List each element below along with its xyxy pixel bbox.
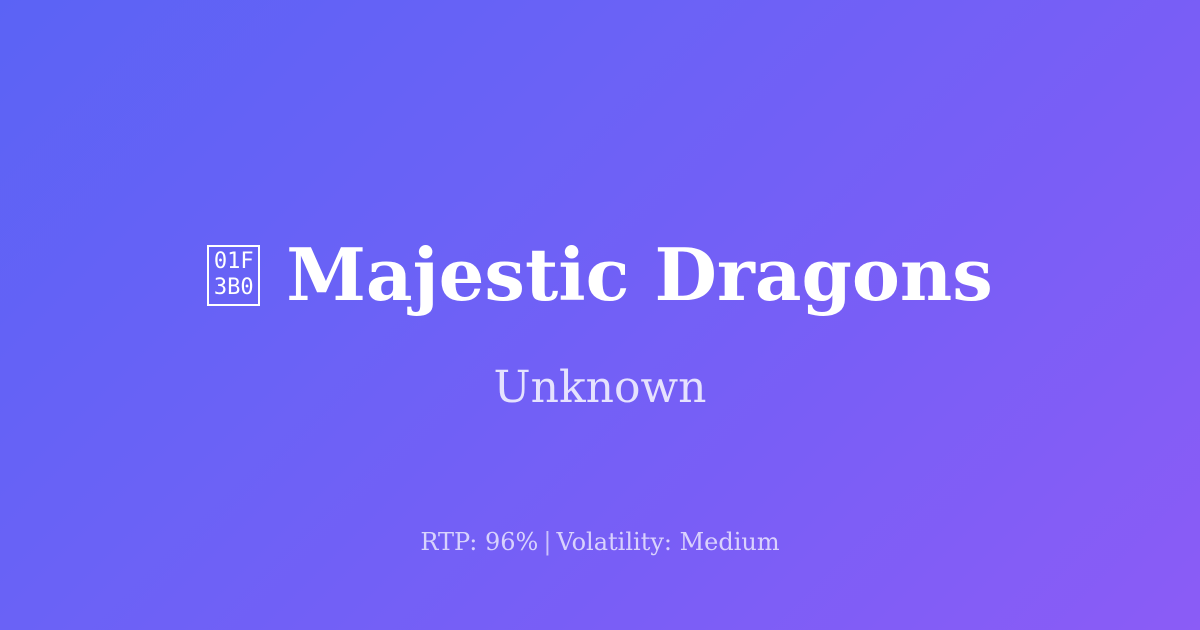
game-meta-line: RTP: 96%|Volatility: Medium [0,526,1200,558]
game-preview-card: 01F 3B0 Majestic Dragons Unknown RTP: 96… [0,0,1200,630]
slot-machine-emoji-tofu-icon: 01F 3B0 [207,245,260,306]
rtp-value: RTP: 96% [420,528,538,556]
meta-separator: | [538,528,556,556]
tofu-codepoint-top: 01F [214,249,254,275]
title-row: 01F 3B0 Majestic Dragons [0,232,1200,318]
page-title: Majestic Dragons [286,232,993,318]
volatility-value: Volatility: Medium [556,528,779,556]
provider-label: Unknown [0,360,1200,416]
tofu-codepoint-bottom: 3B0 [214,275,254,301]
